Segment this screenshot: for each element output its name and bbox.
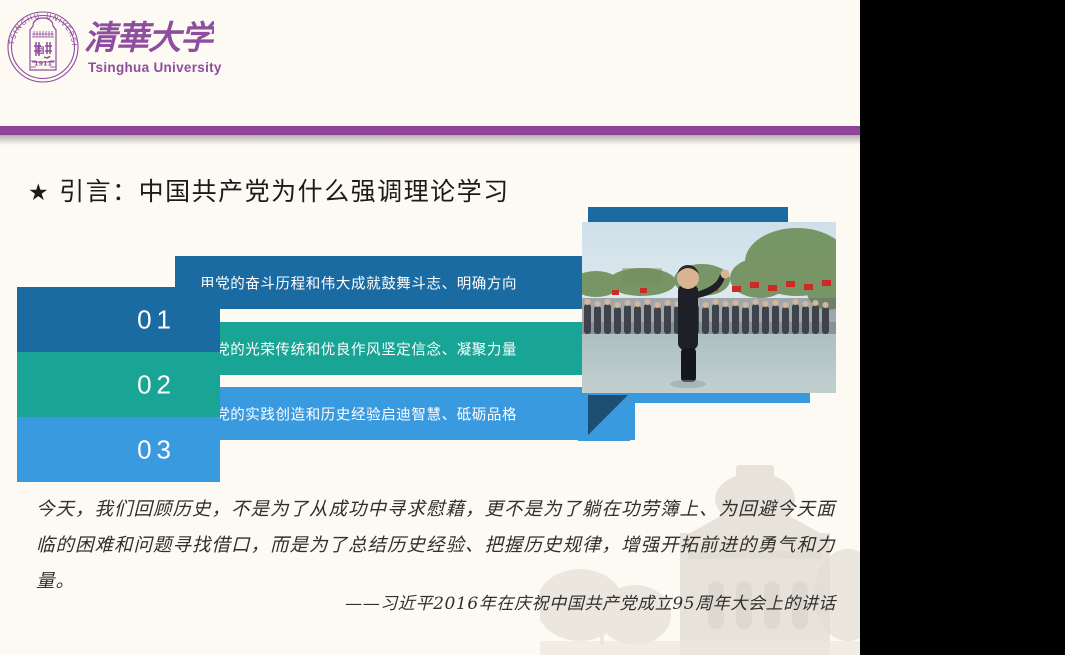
block-text-bar: 用党的光荣传统和优良作风坚定信念、凝聚力量 [175,322,635,375]
block-text-bar: 用党的实践创造和历史经验启迪智慧、砥砺品格 [175,387,635,440]
number-block: 02 [17,352,220,417]
svg-text:清華大学: 清華大学 [84,18,214,57]
video-panel [860,0,1065,140]
page-title-text: 引言：中国共产党为什么强调理论学习 [59,177,510,206]
block-text: 用党的实践创造和历史经验启迪智慧、砥砺品格 [200,403,517,424]
number-block: 03 [17,417,220,482]
star-icon: ★ [28,180,50,206]
number-block: 01 [17,287,220,352]
block-number: 01 [137,304,176,335]
page-title: ★引言：中国共产党为什么强调理论学习 [28,172,510,208]
photo-decoration-triangle [588,395,628,435]
university-name-cn-logo: 清華大学 [84,14,214,60]
block-text-bar: 用党的奋斗历程和伟大成就鼓舞斗志、明确方向 [175,256,635,309]
block-number: 02 [137,369,176,400]
university-name-en: Tsinghua University [88,60,288,75]
block-text: 用党的光荣传统和优良作风坚定信念、凝聚力量 [200,338,517,359]
header-divider-shadow [0,135,860,145]
slide-quote: 今天，我们回顾历史，不是为了从成功中寻求慰藉，更不是为了躺在功劳簿上、为回避今天… [36,492,836,600]
header-divider [0,126,860,135]
slide-photo [582,222,836,393]
presentation-slide: 自 1911 [0,0,860,655]
block-text: 用党的奋斗历程和伟大成就鼓舞斗志、明确方向 [200,272,517,293]
screen-root: 自 1911 [0,0,1065,655]
slide-header: 自 1911 [0,0,860,126]
svg-text:1911: 1911 [34,60,53,68]
slide-quote-attribution: ——习近平2016年在庆祝中国共产党成立95周年大会上的讲话 [196,589,836,614]
svg-text:TSINGHUA: TSINGHUA [6,4,41,46]
tsinghua-seal-icon: 自 1911 [6,4,80,90]
block-number: 03 [137,434,176,465]
